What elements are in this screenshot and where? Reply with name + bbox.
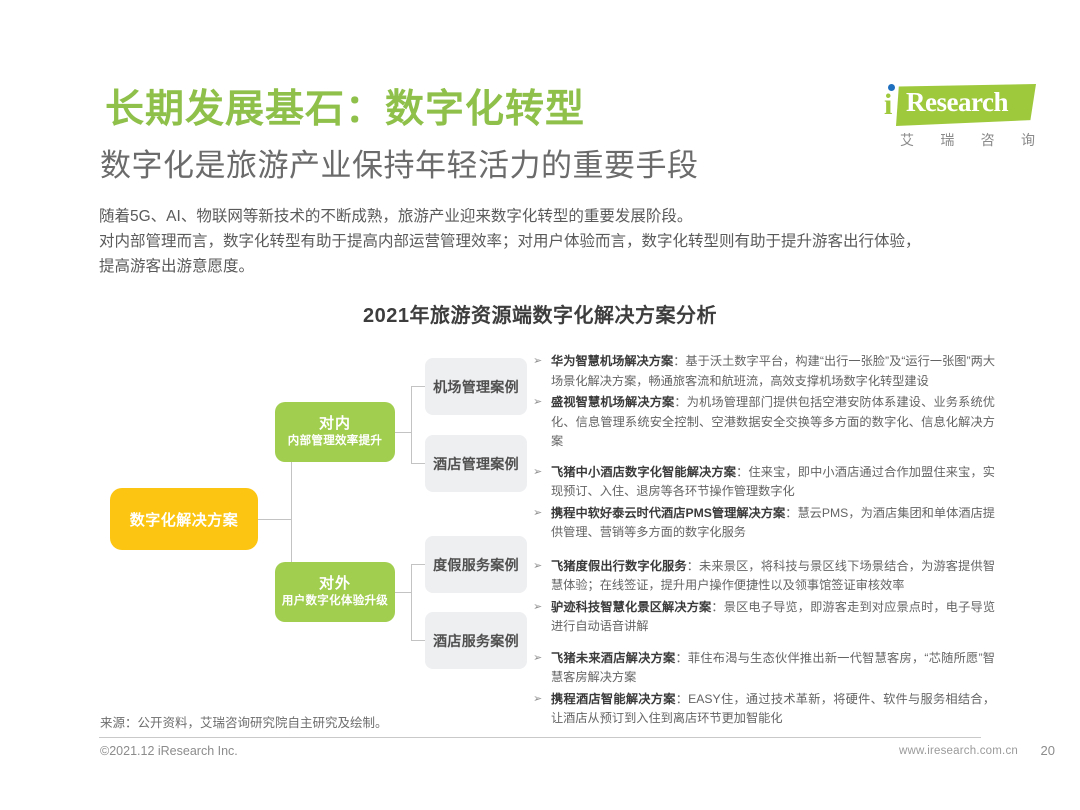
- connector-root-stem: [258, 519, 291, 520]
- diagram-node-root-label: 数字化解决方案: [130, 509, 239, 530]
- slide-header: 长期发展基石：数字化转型 数字化是旅游产业保持年轻活力的重要手段 i Resea…: [0, 0, 1080, 200]
- logo-mark: i Research: [878, 82, 1038, 128]
- copyright-text: ©2021.12 iResearch Inc.: [100, 744, 238, 758]
- connector-outer-spine: [411, 564, 412, 640]
- bullet-name: 飞猪中小酒店数字化智能解决方案: [551, 465, 736, 479]
- page-number: 20: [1041, 743, 1055, 758]
- bullet-name: 盛视智慧机场解决方案: [551, 395, 674, 409]
- connector-inner-spine: [411, 386, 412, 463]
- case-box-label: 机场管理案例: [433, 377, 519, 397]
- bullet-name: 飞猪未来酒店解决方案: [551, 651, 675, 665]
- lead-line-3: 提高游客出游意愿度。: [99, 254, 989, 279]
- chart-title: 2021年旅游资源端数字化解决方案分析: [0, 299, 1080, 328]
- page-title: 长期发展基石：数字化转型: [105, 88, 585, 133]
- lead-line-1: 随着5G、AI、物联网等新技术的不断成熟，旅游产业迎来数字化转型的重要发展阶段。: [99, 204, 989, 229]
- case-box-label: 度假服务案例: [433, 555, 519, 575]
- logo-blue-dot-icon: [888, 84, 895, 91]
- logo-cn-char-3: 询: [1021, 130, 1036, 150]
- diagram-node-inner: 对内 内部管理效率提升: [275, 402, 395, 462]
- solution-bullet-list: ➢ 华为智慧机场解决方案：基于沃土数字平台，构建“出行一张脸”及“运行一张图”两…: [533, 352, 995, 740]
- bullet-group-airport: ➢ 华为智慧机场解决方案：基于沃土数字平台，构建“出行一张脸”及“运行一张图”两…: [533, 352, 995, 452]
- logo-cn-char-0: 艾: [900, 130, 915, 150]
- arrow-bullet-icon: ➢: [533, 393, 542, 413]
- list-item: ➢ 飞猪未来酒店解决方案：菲住布渴与生态伙伴推出新一代智慧客房，“芯随所愿”智慧…: [533, 649, 995, 688]
- bullet-name: 华为智慧机场解决方案: [551, 354, 673, 368]
- list-item: ➢ 驴迹科技智慧化景区解决方案：景区电子导览，即游客走到对应景点时，电子导览进行…: [533, 598, 995, 637]
- connector-inner-stem: [395, 432, 411, 433]
- case-box-label: 酒店服务案例: [433, 631, 519, 651]
- diagram-node-outer-subtitle: 用户数字化体验升级: [282, 594, 388, 610]
- bullet-group-resort: ➢ 飞猪度假出行数字化服务：未来景区，将科技与景区线下场景结合，为游客提供智慧体…: [533, 557, 995, 637]
- lead-paragraph: 随着5G、AI、物联网等新技术的不断成熟，旅游产业迎来数字化转型的重要发展阶段。…: [99, 204, 989, 279]
- list-item: ➢ 飞猪中小酒店数字化智能解决方案：住来宝，即中小酒店通过合作加盟住来宝，实现预…: [533, 463, 995, 502]
- website-link[interactable]: www.iresearch.com.cn: [899, 745, 1018, 757]
- lead-line-2: 对内部管理而言，数字化转型有助于提高内部运营管理效率；对用户体验而言，数字化转型…: [99, 229, 989, 254]
- iresearch-logo: i Research 艾 瑞 咨 询: [878, 82, 1038, 154]
- slide-root: 长期发展基石：数字化转型 数字化是旅游产业保持年轻活力的重要手段 i Resea…: [0, 0, 1080, 810]
- bullet-name: 驴迹科技智慧化景区解决方案: [551, 600, 711, 614]
- bullet-name: 携程酒店智能解决方案: [551, 692, 676, 706]
- arrow-bullet-icon: ➢: [533, 504, 542, 524]
- case-box-hotel-service: 酒店服务案例: [425, 612, 527, 669]
- case-box-hotel-management: 酒店管理案例: [425, 435, 527, 492]
- case-box-resort-service: 度假服务案例: [425, 536, 527, 593]
- logo-i-letter: i: [884, 90, 892, 120]
- bullet-group-hotel-service: ➢ 飞猪未来酒店解决方案：菲住布渴与生态伙伴推出新一代智慧客房，“芯随所愿”智慧…: [533, 649, 995, 729]
- arrow-bullet-icon: ➢: [533, 649, 542, 669]
- footer-divider: [99, 737, 981, 738]
- logo-wordmark: Research: [906, 89, 1008, 116]
- page-subtitle: 数字化是旅游产业保持年轻活力的重要手段: [100, 147, 699, 184]
- case-box-airport-management: 机场管理案例: [425, 358, 527, 415]
- logo-cn-char-2: 咨: [981, 130, 996, 150]
- list-item: ➢ 携程中软好泰云时代酒店PMS管理解决方案：慧云PMS，为酒店集团和单体酒店提…: [533, 504, 995, 543]
- logo-cn-char-1: 瑞: [940, 130, 955, 150]
- diagram-node-inner-subtitle: 内部管理效率提升: [288, 434, 382, 450]
- list-item: ➢ 华为智慧机场解决方案：基于沃土数字平台，构建“出行一张脸”及“运行一张图”两…: [533, 352, 995, 391]
- list-item: ➢ 盛视智慧机场解决方案：为机场管理部门提供包括空港安防体系建设、业务系统优化、…: [533, 393, 995, 452]
- diagram-node-inner-title: 对内: [319, 414, 351, 434]
- bullet-group-hotel-management: ➢ 飞猪中小酒店数字化智能解决方案：住来宝，即中小酒店通过合作加盟住来宝，实现预…: [533, 463, 995, 543]
- diagram-node-root: 数字化解决方案: [110, 488, 258, 550]
- list-item: ➢ 携程酒店智能解决方案：EASY住，通过技术革新，将硬件、软件与服务相结合，让…: [533, 690, 995, 729]
- logo-chinese-name: 艾 瑞 咨 询: [900, 130, 1036, 150]
- arrow-bullet-icon: ➢: [533, 598, 542, 618]
- case-box-label: 酒店管理案例: [433, 454, 519, 474]
- list-item: ➢ 飞猪度假出行数字化服务：未来景区，将科技与景区线下场景结合，为游客提供智慧体…: [533, 557, 995, 596]
- arrow-bullet-icon: ➢: [533, 557, 542, 577]
- diagram-node-outer: 对外 用户数字化体验升级: [275, 562, 395, 622]
- bullet-name: 携程中软好泰云时代酒店PMS管理解决方案: [551, 506, 785, 520]
- source-note: 来源：公开资料，艾瑞咨询研究院自主研究及绘制。: [100, 712, 388, 731]
- arrow-bullet-icon: ➢: [533, 352, 542, 372]
- bullet-name: 飞猪度假出行数字化服务: [551, 559, 687, 573]
- diagram-node-outer-title: 对外: [319, 574, 351, 594]
- arrow-bullet-icon: ➢: [533, 463, 542, 483]
- connector-outer-stem: [395, 592, 411, 593]
- arrow-bullet-icon: ➢: [533, 690, 542, 710]
